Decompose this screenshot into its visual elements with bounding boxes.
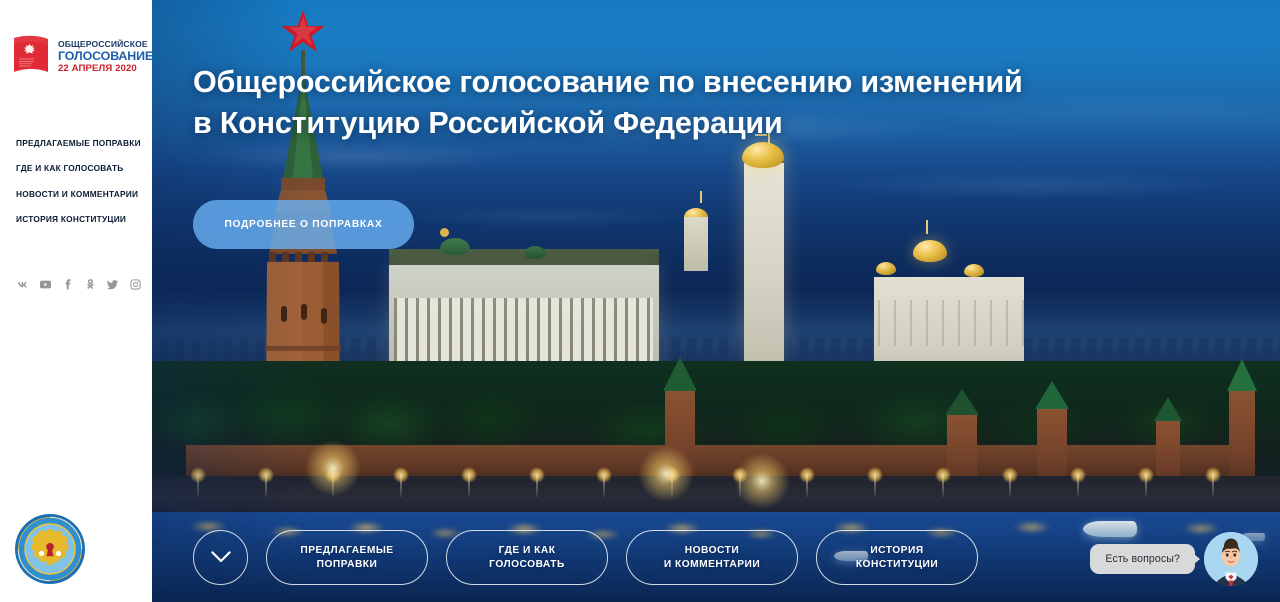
- logo-line-3: 22 АПРЕЛЯ 2020: [58, 64, 153, 74]
- bottom-pill-news-label: НОВОСТИИ КОММЕНТАРИИ: [664, 544, 760, 572]
- vk-icon[interactable]: [16, 278, 29, 291]
- social-links: [16, 278, 142, 291]
- instagram-icon[interactable]: [129, 278, 142, 291]
- logo-line-2: ГОЛОСОВАНИЕ: [58, 50, 153, 62]
- chat-bubble-text[interactable]: Есть вопросы?: [1090, 544, 1195, 574]
- bottom-pill-how-to-vote-label: ГДЕ И КАКГОЛОСОВАТЬ: [489, 544, 565, 572]
- central-election-commission-emblem-icon: [14, 513, 86, 585]
- landing-page: ОБЩЕРОССИЙСКОЕ ГОЛОСОВАНИЕ 22 АПРЕЛЯ 202…: [0, 0, 1280, 602]
- sidebar-item-how-to-vote[interactable]: ГДЕ И КАК ГОЛОСОВАТЬ: [16, 163, 144, 174]
- sidebar-item-amendments[interactable]: ПРЕДЛАГАЕМЫЕ ПОПРАВКИ: [16, 138, 144, 149]
- learn-more-amendments-button[interactable]: ПОДРОБНЕЕ О ПОПРАВКАХ: [193, 200, 414, 249]
- scroll-down-button[interactable]: [193, 530, 248, 585]
- hero-banner: Общероссийское голосование по внесению и…: [152, 0, 1280, 602]
- bottom-pill-history-label: ИСТОРИЯКОНСТИТУЦИИ: [856, 544, 938, 572]
- twitter-icon[interactable]: [106, 278, 119, 291]
- bottom-pill-news[interactable]: НОВОСТИИ КОММЕНТАРИИ: [626, 530, 798, 585]
- bottom-pill-history[interactable]: ИСТОРИЯКОНСТИТУЦИИ: [816, 530, 978, 585]
- logo-line-1: ОБЩЕРОССИЙСКОЕ: [58, 40, 153, 49]
- odnoklassniki-icon[interactable]: [84, 278, 97, 291]
- site-logo[interactable]: ОБЩЕРОССИЙСКОЕ ГОЛОСОВАНИЕ 22 АПРЕЛЯ 202…: [10, 34, 142, 80]
- sidebar-item-news[interactable]: НОВОСТИ И КОММЕНТАРИИ: [16, 189, 144, 200]
- bottom-pill-amendments-label: ПРЕДЛАГАЕМЫЕПОПРАВКИ: [300, 544, 393, 572]
- support-agent-avatar-icon[interactable]: [1204, 532, 1258, 586]
- sidebar-item-history[interactable]: ИСТОРИЯ КОНСТИТУЦИИ: [16, 214, 144, 225]
- page-title-line-1: Общероссийское голосование по внесению и…: [193, 65, 1023, 99]
- facebook-icon[interactable]: [61, 278, 74, 291]
- youtube-icon[interactable]: [39, 278, 52, 291]
- sidebar: ОБЩЕРОССИЙСКОЕ ГОЛОСОВАНИЕ 22 АПРЕЛЯ 202…: [0, 0, 152, 602]
- logo-text: ОБЩЕРОССИЙСКОЕ ГОЛОСОВАНИЕ 22 АПРЕЛЯ 202…: [58, 40, 153, 73]
- russia-flag-emblem-icon: [10, 34, 52, 80]
- bottom-pill-how-to-vote[interactable]: ГДЕ И КАКГОЛОСОВАТЬ: [446, 530, 608, 585]
- hero-content: Общероссийское голосование по внесению и…: [152, 0, 1280, 602]
- bottom-nav-row: ПРЕДЛАГАЕМЫЕПОПРАВКИ ГДЕ И КАКГОЛОСОВАТЬ…: [193, 530, 978, 585]
- page-title: Общероссийское голосование по внесению и…: [193, 62, 1093, 143]
- page-title-line-2: в Конституцию Российской Федерации: [193, 106, 783, 140]
- chat-widget: Есть вопросы?: [1090, 532, 1258, 586]
- bottom-pill-amendments[interactable]: ПРЕДЛАГАЕМЫЕПОПРАВКИ: [266, 530, 428, 585]
- sidebar-nav: ПРЕДЛАГАЕМЫЕ ПОПРАВКИ ГДЕ И КАК ГОЛОСОВА…: [16, 138, 144, 226]
- chevron-down-icon: [211, 551, 231, 564]
